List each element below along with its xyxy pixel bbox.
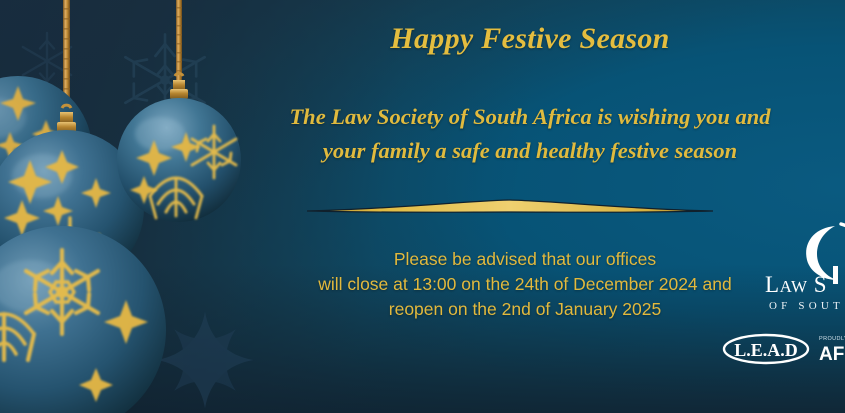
wordmark-law-rest: AW — [780, 277, 808, 296]
greeting-line-2: your family a safe and healthy festive s… — [240, 134, 820, 168]
ornaments-group — [0, 0, 300, 413]
svg-text:L.E.A.D: L.E.A.D — [734, 340, 798, 360]
lead-badge-logo: L.E.A.D — [721, 332, 811, 366]
gold-divider-ornament — [305, 196, 715, 220]
greeting-line-1: The Law Society of South Africa is wishi… — [240, 100, 820, 134]
afr-small-text: PROUDLY — [819, 336, 845, 342]
notice-line-1: Please be advised that our offices — [305, 247, 745, 272]
law-society-subline: OF SOUT — [769, 300, 844, 312]
afr-big-text: AF — [819, 344, 844, 366]
notice-line-2: will close at 13:00 on the 24th of Decem… — [305, 272, 745, 297]
office-closure-notice: Please be advised that our offices will … — [305, 247, 745, 322]
greeting-message: The Law Society of South Africa is wishi… — [240, 100, 820, 168]
proudly-african-mark: PROUDLY AF — [819, 334, 845, 368]
wordmark-society-cap: S — [814, 272, 827, 297]
notice-line-3: reopen on the 2nd of January 2025 — [305, 297, 745, 322]
law-society-logo: LAW S OF SOUT L.E.A.D PROUDLY AF — [713, 222, 845, 382]
wordmark-law-cap: L — [765, 272, 780, 297]
page-title: Happy Festive Season — [300, 22, 760, 56]
law-society-wordmark: LAW S — [765, 272, 827, 298]
festive-greeting-card: Happy Festive Season The Law Society of … — [0, 0, 845, 413]
